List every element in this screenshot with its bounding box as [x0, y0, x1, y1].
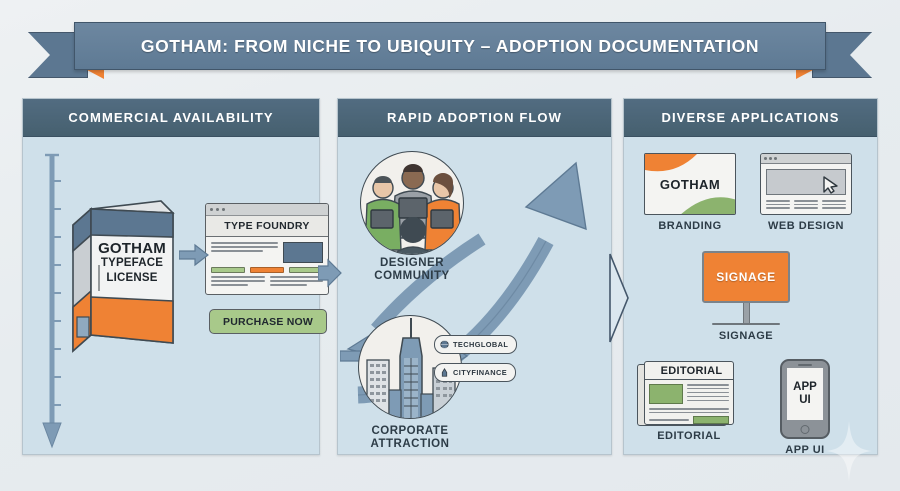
corporate-attraction-label: CORPORATE ATTRACTION	[342, 425, 478, 451]
purchase-now-label: PURCHASE NOW	[223, 316, 313, 328]
designer-community-label: DESIGNER COMMUNITY	[344, 257, 480, 283]
corporate-label-line1: CORPORATE	[342, 425, 478, 438]
signage-base	[712, 323, 780, 325]
app-ui-screen-text: APPUI	[787, 368, 823, 420]
panel-header-adoption: RAPID ADOPTION FLOW	[338, 99, 611, 137]
editorial-ad-block	[693, 416, 729, 424]
phone-home-button-icon	[801, 425, 810, 434]
panel-body-applications: GOTHAM BRANDING	[624, 137, 877, 454]
app-ui-phone-art: APPUI	[780, 359, 830, 439]
signage-board-text: SIGNAGE	[716, 270, 776, 284]
web-design-caption: WEB DESIGN	[760, 220, 852, 232]
signage-post	[743, 303, 750, 323]
designer-label-line2: COMMUNITY	[344, 270, 480, 283]
web-dot-icon	[774, 157, 777, 160]
cursor-icon	[823, 176, 839, 194]
browser-titlebar	[206, 204, 328, 216]
branding-card-art: GOTHAM	[644, 153, 736, 215]
badge-techglobal: TECHGLOBAL	[434, 335, 517, 354]
application-app-ui[interactable]: APPUI APP UI	[780, 359, 830, 456]
box-line-license: LICENSE	[93, 271, 171, 286]
corporate-label-line2: ATTRACTION	[342, 438, 478, 451]
purchase-now-button[interactable]: PURCHASE NOW	[209, 309, 327, 334]
web-dot-icon	[769, 157, 772, 160]
panel-header-applications: DIVERSE APPLICATIONS	[624, 99, 877, 137]
swatch-orange-icon	[250, 267, 284, 273]
web-design-card-art	[760, 153, 852, 215]
browser-dot-icon	[222, 208, 225, 211]
designer-label-line1: DESIGNER	[344, 257, 480, 270]
browser-heading-text: TYPE FOUNDRY	[224, 220, 309, 232]
swatch-green-icon	[289, 267, 323, 273]
signage-caption: SIGNAGE	[702, 330, 790, 342]
app-ui-caption: APP UI	[780, 444, 830, 456]
panel-commercial-availability: COMMERCIAL AVAILABILITY	[22, 98, 320, 455]
panel-header-commercial: COMMERCIAL AVAILABILITY	[23, 99, 319, 137]
page-title: GOTHAM: FROM NICHE TO UBIQUITY – ADOPTIO…	[141, 36, 759, 57]
panel-diverse-applications: DIVERSE APPLICATIONS GOTHAM BRANDING	[623, 98, 878, 455]
web-card-titlebar	[761, 154, 851, 164]
browser-content	[206, 237, 328, 294]
ribbon-body: GOTHAM: FROM NICHE TO UBIQUITY – ADOPTIO…	[74, 22, 826, 70]
panel-title-applications: DIVERSE APPLICATIONS	[661, 110, 839, 125]
panel-title-adoption: RAPID ADOPTION FLOW	[387, 110, 562, 125]
badge-cityfinance-label: CITYFINANCE	[453, 368, 507, 377]
editorial-headline: EDITORIAL	[645, 362, 733, 380]
browser-dot-icon	[216, 208, 219, 211]
editorial-caption: EDITORIAL	[644, 430, 734, 442]
globe-icon	[440, 340, 449, 349]
gotham-license-box: GOTHAM TYPEFACE LICENSE	[69, 195, 177, 355]
panel-body-commercial: GOTHAM TYPEFACE LICENSE TYPE FOUNDRY	[23, 137, 319, 454]
branding-wordmark: GOTHAM	[645, 154, 735, 214]
badge-cityfinance: CITYFINANCE	[434, 363, 516, 382]
branding-caption: BRANDING	[644, 220, 736, 232]
phone-speaker-icon	[798, 364, 812, 366]
panel-rapid-adoption-flow: RAPID ADOPTION FLOW	[337, 98, 612, 455]
application-signage[interactable]: SIGNAGE SIGNAGE	[702, 251, 790, 342]
panel-title-commercial: COMMERCIAL AVAILABILITY	[68, 110, 273, 125]
title-ribbon: GOTHAM: FROM NICHE TO UBIQUITY – ADOPTIO…	[28, 22, 872, 78]
designer-community-illustration	[360, 151, 464, 255]
application-web-design[interactable]: WEB DESIGN	[760, 153, 852, 232]
application-branding[interactable]: GOTHAM BRANDING	[644, 153, 736, 232]
panel-body-adoption: DESIGNER COMMUNITY	[338, 137, 611, 454]
browser-image-block	[283, 242, 323, 263]
web-dot-icon	[764, 157, 767, 160]
timeline-ruler-icon	[41, 151, 63, 451]
tower-icon	[440, 368, 449, 377]
application-editorial[interactable]: EDITORIAL	[644, 361, 734, 442]
browser-dot-icon	[210, 208, 213, 211]
box-line-gotham: GOTHAM	[93, 241, 171, 256]
signage-billboard-art: SIGNAGE	[702, 251, 790, 303]
editorial-photo-block	[649, 384, 683, 404]
browser-heading: TYPE FOUNDRY	[206, 216, 328, 237]
editorial-newspaper-art: EDITORIAL	[644, 361, 734, 425]
swatch-green-icon	[211, 267, 245, 273]
badge-techglobal-label: TECHGLOBAL	[453, 340, 508, 349]
box-line-typeface: TYPEFACE	[93, 256, 171, 271]
type-foundry-browser[interactable]: TYPE FOUNDRY	[205, 203, 329, 295]
